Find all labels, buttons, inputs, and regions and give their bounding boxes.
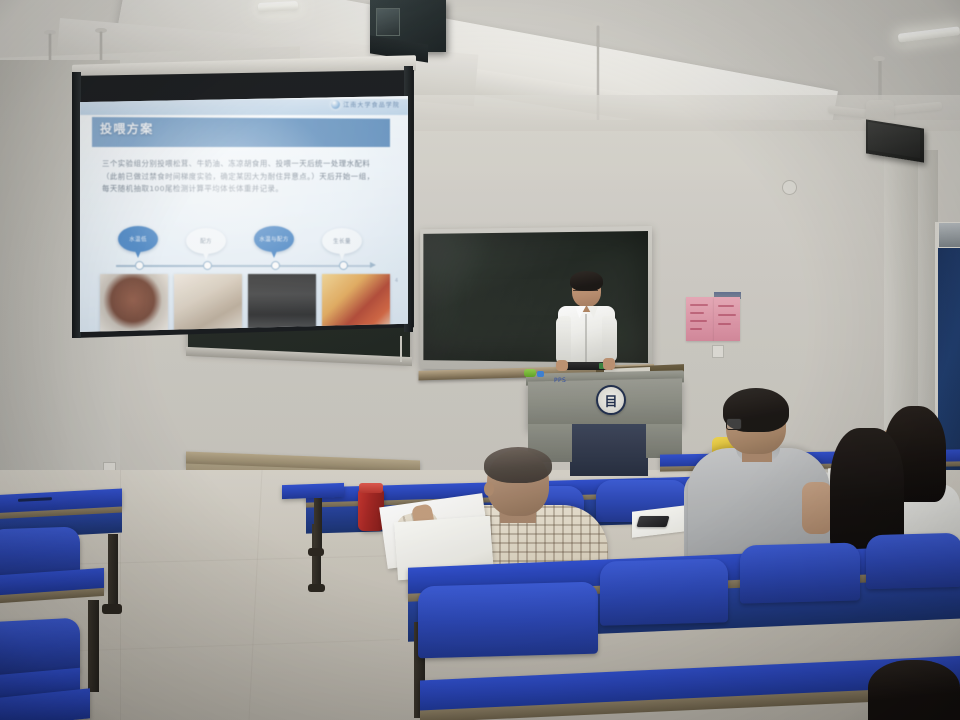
timeline-pin-1: 水温低 bbox=[118, 226, 158, 262]
slide-body-text: 三个实验组分别投喂松茸、牛奶油、冻凉胡食用、投喂一天后统一处理水配料 （此前已做… bbox=[102, 158, 388, 196]
wall-poster-left bbox=[686, 297, 714, 341]
timeline-node-1 bbox=[135, 261, 144, 270]
desk-foot-3a bbox=[308, 584, 325, 592]
slide-logo: 江南大学食品学院 bbox=[331, 100, 400, 109]
desk-foot-fl-1 bbox=[102, 604, 122, 614]
chair-front-row-1[interactable] bbox=[418, 582, 598, 659]
slide-page-number: 4 bbox=[395, 278, 398, 284]
classroom-scene: 江南大学食品学院 投喂方案 三个实验组分别投喂松茸、牛奶油、冻凉胡食用、投喂一天… bbox=[0, 0, 960, 720]
chair-front-row-3[interactable] bbox=[740, 542, 860, 603]
slide-title: 投喂方案 bbox=[100, 120, 154, 137]
door-window bbox=[938, 222, 960, 248]
slide-logo-text: 江南大学食品学院 bbox=[343, 100, 400, 109]
ceiling-fan-mount bbox=[873, 56, 885, 61]
university-seal-icon bbox=[331, 100, 340, 109]
timeline-pin-3: 水温与配方 bbox=[254, 226, 294, 262]
red-thermos-lid bbox=[359, 483, 383, 493]
presenter-hair bbox=[570, 271, 603, 291]
audience-long-hair-woman-arm bbox=[802, 482, 832, 534]
projector-lens-icon bbox=[376, 8, 400, 36]
screen-pull-cord[interactable] bbox=[400, 336, 402, 362]
smartphone-on-desk[interactable] bbox=[636, 516, 669, 527]
desk-leg-lc2 bbox=[314, 498, 322, 552]
slide-photo-1 bbox=[100, 274, 168, 332]
chair-front-left-2[interactable] bbox=[0, 617, 80, 676]
slide-photo-3 bbox=[248, 274, 316, 332]
presentation-slide: 江南大学食品学院 投喂方案 三个实验组分别投喂松茸、牛奶油、冻凉胡食用、投喂一天… bbox=[80, 96, 408, 332]
presenter-arm-right bbox=[602, 316, 617, 362]
desk-leg-fl-2 bbox=[88, 600, 99, 692]
slide-timeline-arrow-icon bbox=[370, 262, 376, 268]
timeline-pin-1-tail bbox=[133, 246, 143, 258]
presenter-hand-left bbox=[556, 360, 568, 371]
timeline-pin-3-tail bbox=[269, 246, 279, 258]
podium-base bbox=[570, 424, 648, 476]
chair-front-row-2[interactable] bbox=[600, 558, 728, 625]
podium-emblem-icon: 目 bbox=[596, 385, 626, 415]
desk-left-col-2[interactable] bbox=[282, 483, 344, 499]
slide-photo-4 bbox=[322, 274, 390, 332]
timeline-node-4 bbox=[339, 261, 348, 270]
timeline-pin-4: 生长量 bbox=[322, 228, 362, 264]
wall-outlet[interactable] bbox=[712, 345, 724, 358]
presenter-arm-left bbox=[556, 316, 571, 364]
podium-brand-label: PPS bbox=[554, 377, 566, 384]
presenter-shirt-placket bbox=[585, 314, 587, 364]
blue-object-on-desk bbox=[537, 371, 544, 377]
wall-mounted-sensor bbox=[782, 180, 797, 195]
timeline-pin-4-tail bbox=[337, 248, 347, 260]
slide-timeline-axis bbox=[116, 265, 372, 267]
projection-screen-frame-left bbox=[72, 72, 81, 338]
presenter-hand-right bbox=[603, 358, 615, 370]
slide-body-line-2: （此前已做过禁食时间梯度实验，确定某因大为耐住异意点。）天后开始一组， bbox=[102, 171, 388, 184]
audience-gray-shirt-man-glasses-icon bbox=[726, 418, 742, 430]
audience-foreground-head bbox=[868, 660, 960, 720]
audience-bald-man-ear bbox=[484, 482, 494, 496]
timeline-node-3 bbox=[271, 261, 280, 270]
wall-poster-right bbox=[714, 297, 740, 341]
green-object-on-desk bbox=[524, 369, 536, 377]
podium-side-panel-right bbox=[646, 424, 682, 458]
timeline-node-2 bbox=[203, 261, 212, 270]
presenter-glasses-icon bbox=[573, 290, 598, 296]
timeline-pin-2: 配方 bbox=[186, 228, 226, 264]
projection-screen-surface[interactable]: 江南大学食品学院 投喂方案 三个实验组分别投喂松茸、牛奶油、冻凉胡食用、投喂一天… bbox=[80, 96, 408, 332]
timeline-pin-2-tail bbox=[201, 248, 211, 260]
slide-body-line-1: 三个实验组分别投喂松茸、牛奶油、冻凉胡食用、投喂一天后统一处理水配料 bbox=[102, 158, 388, 171]
slide-timeline-pins: 水温低 配方 水温与配方 生长量 bbox=[118, 226, 368, 266]
slide-photo-2 bbox=[174, 274, 242, 332]
desk-leg-fl-1 bbox=[108, 534, 118, 608]
desk-foot-lc2 bbox=[308, 548, 324, 556]
chair-front-row-4[interactable] bbox=[866, 533, 960, 590]
slide-photo-strip bbox=[100, 274, 390, 332]
slide-body-line-3: 每天随机抽取100尾检测计算平均体长体重并记录。 bbox=[102, 183, 388, 196]
audience-bald-man-hair bbox=[484, 447, 552, 483]
